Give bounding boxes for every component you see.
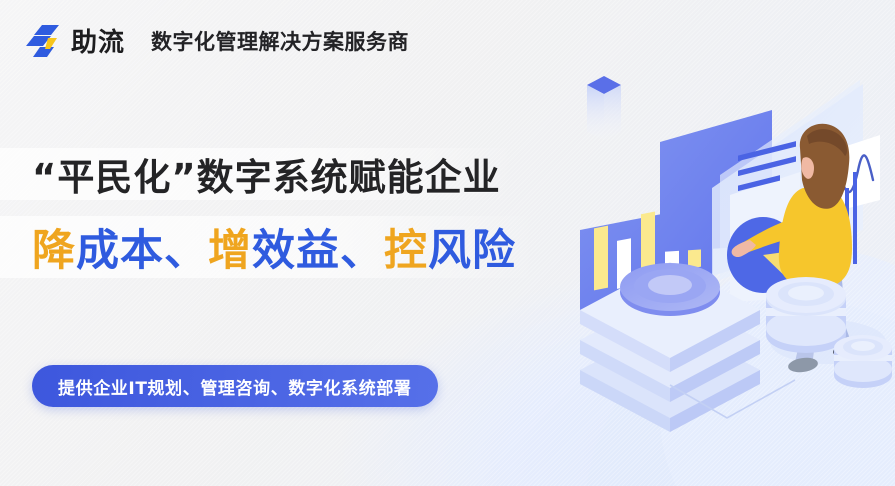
header: 助流 数字化管理解决方案服务商 — [26, 22, 409, 59]
brand-tagline: 数字化管理解决方案服务商 — [151, 26, 409, 56]
hero-illustration — [560, 40, 895, 486]
subheadline-part-4: 效益 — [252, 216, 340, 278]
coin-stack-large — [766, 277, 846, 353]
subheadline-part-6: 控 — [384, 216, 428, 278]
subheadline-part-2: 、 — [164, 216, 208, 278]
cta-button[interactable]: 提供企业IT规划、管理咨询、数字化系统部署 — [32, 365, 438, 407]
subheadline-part-5: 、 — [340, 216, 384, 278]
coin-stack-small — [834, 335, 892, 388]
page-title: “平民化”数字系统赋能企业 — [32, 148, 501, 200]
brand-name: 助流 — [71, 22, 125, 59]
subheadline-part-0: 降 — [32, 216, 76, 278]
small-isometric-box — [587, 76, 621, 140]
subheadline-part-1: 成本 — [76, 216, 164, 278]
lightning-parallelogram-logo-icon — [26, 24, 64, 58]
subheadline-part-3: 增 — [208, 216, 252, 278]
subheadline-part-7: 风险 — [428, 216, 516, 278]
banner-root: 助流 数字化管理解决方案服务商 “平民化”数字系统赋能企业 降 成本 、 增 效… — [0, 0, 895, 486]
subheadline: 降 成本 、 增 效益 、 控 风险 — [32, 216, 516, 278]
